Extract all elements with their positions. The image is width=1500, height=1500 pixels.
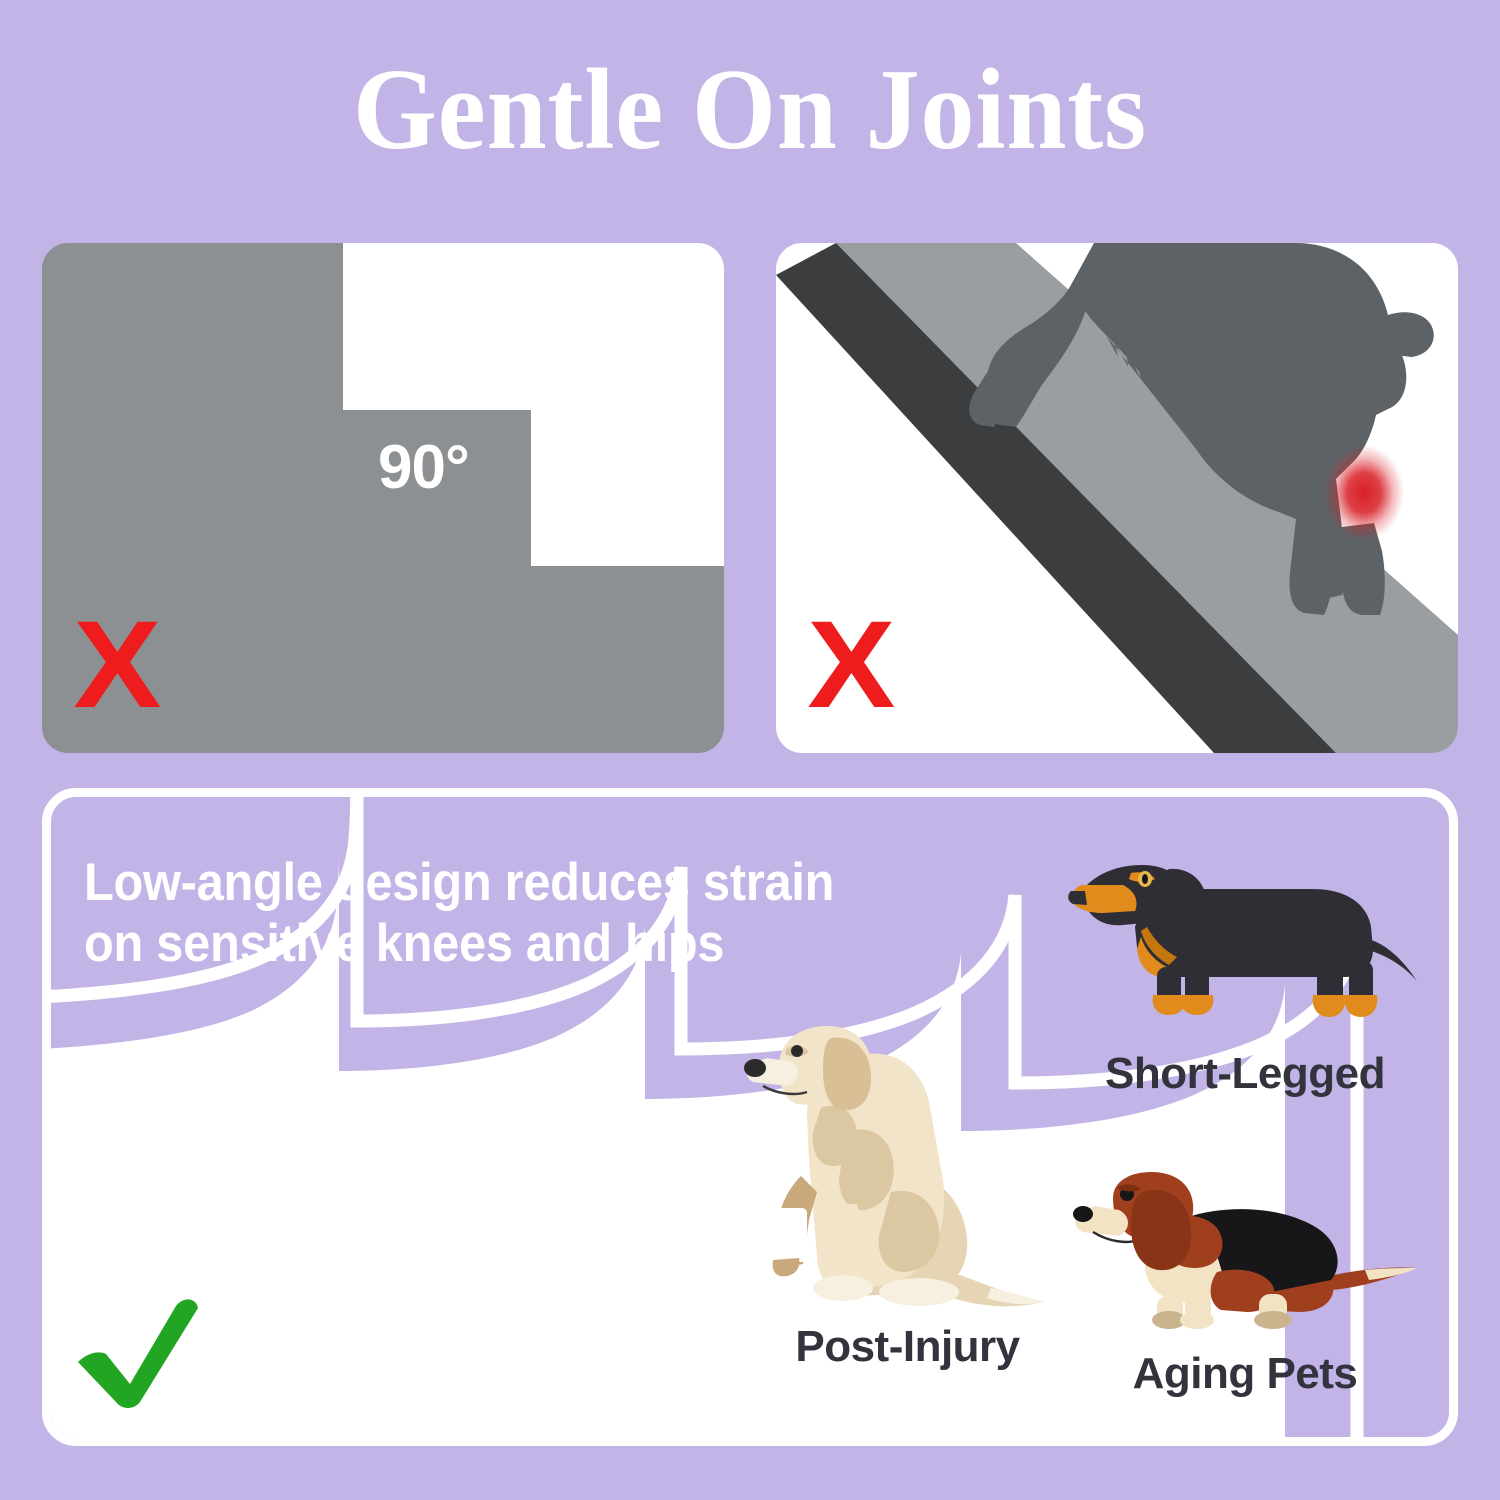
check-mark-gentle [72,1292,200,1412]
dog-label-post-injury: Post-Injury [735,1322,1080,1372]
infographic-canvas: Gentle On Joints X 90° [0,0,1500,1500]
basset-hound-illustration [1065,1170,1425,1345]
dog-card-aging-pets: Aging Pets [1060,1170,1430,1399]
x-mark-steep-ramp: X [807,603,895,727]
angle-label: 90° [378,437,469,499]
dog-card-short-legged: Short-Legged [1060,845,1430,1099]
dog-label-short-legged: Short-Legged [1060,1049,1430,1099]
step-profile-shape [343,243,724,566]
golden-retriever-illustration [743,1020,1073,1320]
dachshund-illustration [1065,845,1425,1045]
x-mark-steep-step: X [73,603,161,727]
dog-card-post-injury: Post-Injury [735,1020,1080,1372]
joint-pain-glow-icon [1324,445,1404,541]
bandage-icon [771,1208,807,1262]
benefit-headline: Low-angle design reduces strain on sensi… [84,852,848,975]
page-title: Gentle On Joints [53,48,1448,173]
dog-label-aging-pets: Aging Pets [1060,1349,1430,1399]
